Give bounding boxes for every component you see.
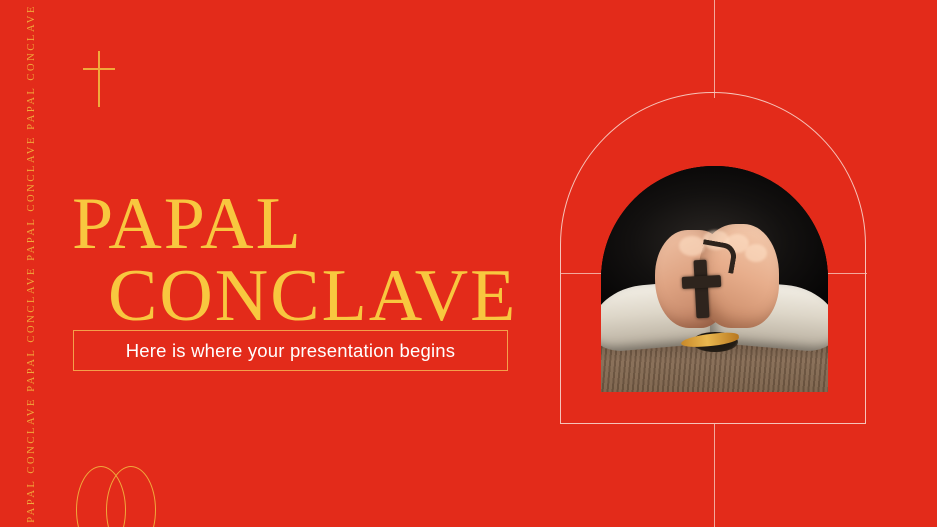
cross-icon-vertical-bar [98,51,100,107]
subtitle-text: Here is where your presentation begins [126,340,455,362]
side-label-text: PAPAL CONCLAVE PAPAL CONCLAVE PAPAL CONC… [27,4,38,523]
rings-icon [76,466,176,527]
guide-line-vertical-top [714,0,715,98]
subtitle-box: Here is where your presentation begins [73,330,508,371]
guide-line-vertical-bottom [714,424,715,527]
presentation-slide: PAPAL CONCLAVE PAPAL CONCLAVE PAPAL CONC… [0,0,937,527]
crucifix-crossbar [681,275,721,289]
cross-icon-horizontal-bar [83,68,115,70]
page-title-line-2: CONCLAVE [72,260,542,333]
prayer-photo [601,166,828,392]
page-title: PAPAL CONCLAVE [72,188,542,333]
praying-hands [649,214,781,334]
knuckle [745,244,767,262]
photo-scene [601,166,828,392]
side-label: PAPAL CONCLAVE PAPAL CONCLAVE PAPAL CONC… [21,0,43,527]
page-title-line-1: PAPAL [72,188,542,261]
cross-icon [78,51,120,107]
crucifix-icon [693,260,709,319]
